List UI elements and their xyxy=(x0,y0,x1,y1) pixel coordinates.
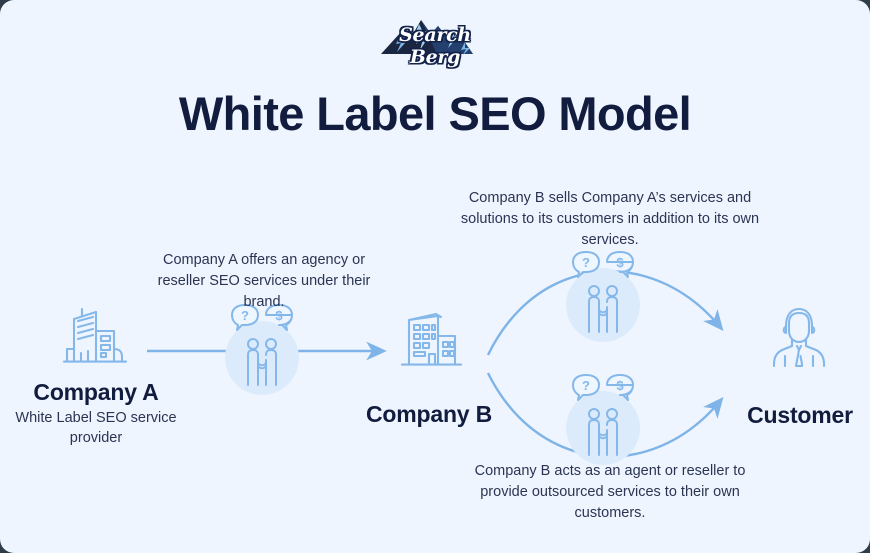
office-building-icon xyxy=(398,310,464,375)
caption-company-b-upper: Company B sells Company A’s services and… xyxy=(452,188,768,251)
handshake-deal-icon: ? $ xyxy=(222,303,302,404)
caption-company-a-to-company-b: Company A offers an agency or reseller S… xyxy=(150,250,378,313)
money-bubble-label: $ xyxy=(616,255,624,270)
handshake-deal-icon: ? $ xyxy=(563,250,643,351)
node-sublabel-company-a: White Label SEO service provider xyxy=(5,408,187,449)
infographic-canvas: Search Berg White Label SEO Model xyxy=(0,0,870,553)
brand-logo: Search Berg xyxy=(0,8,870,70)
brand-logo-text: Search Berg xyxy=(375,24,495,68)
question-bubble-label: ? xyxy=(582,378,590,393)
question-bubble-label: ? xyxy=(582,255,590,270)
node-label-customer: Customer xyxy=(712,402,870,429)
money-bubble-label: $ xyxy=(616,378,624,393)
handshake-deal-icon: ? $ xyxy=(563,373,643,474)
person-with-tie-icon xyxy=(770,306,828,373)
page-title: White Label SEO Model xyxy=(0,88,870,140)
node-label-company-a: Company A xyxy=(0,379,192,406)
node-label-company-b: Company B xyxy=(338,401,520,428)
office-building-icon xyxy=(62,305,128,372)
caption-company-b-lower: Company B acts as an agent or reseller t… xyxy=(452,461,768,524)
